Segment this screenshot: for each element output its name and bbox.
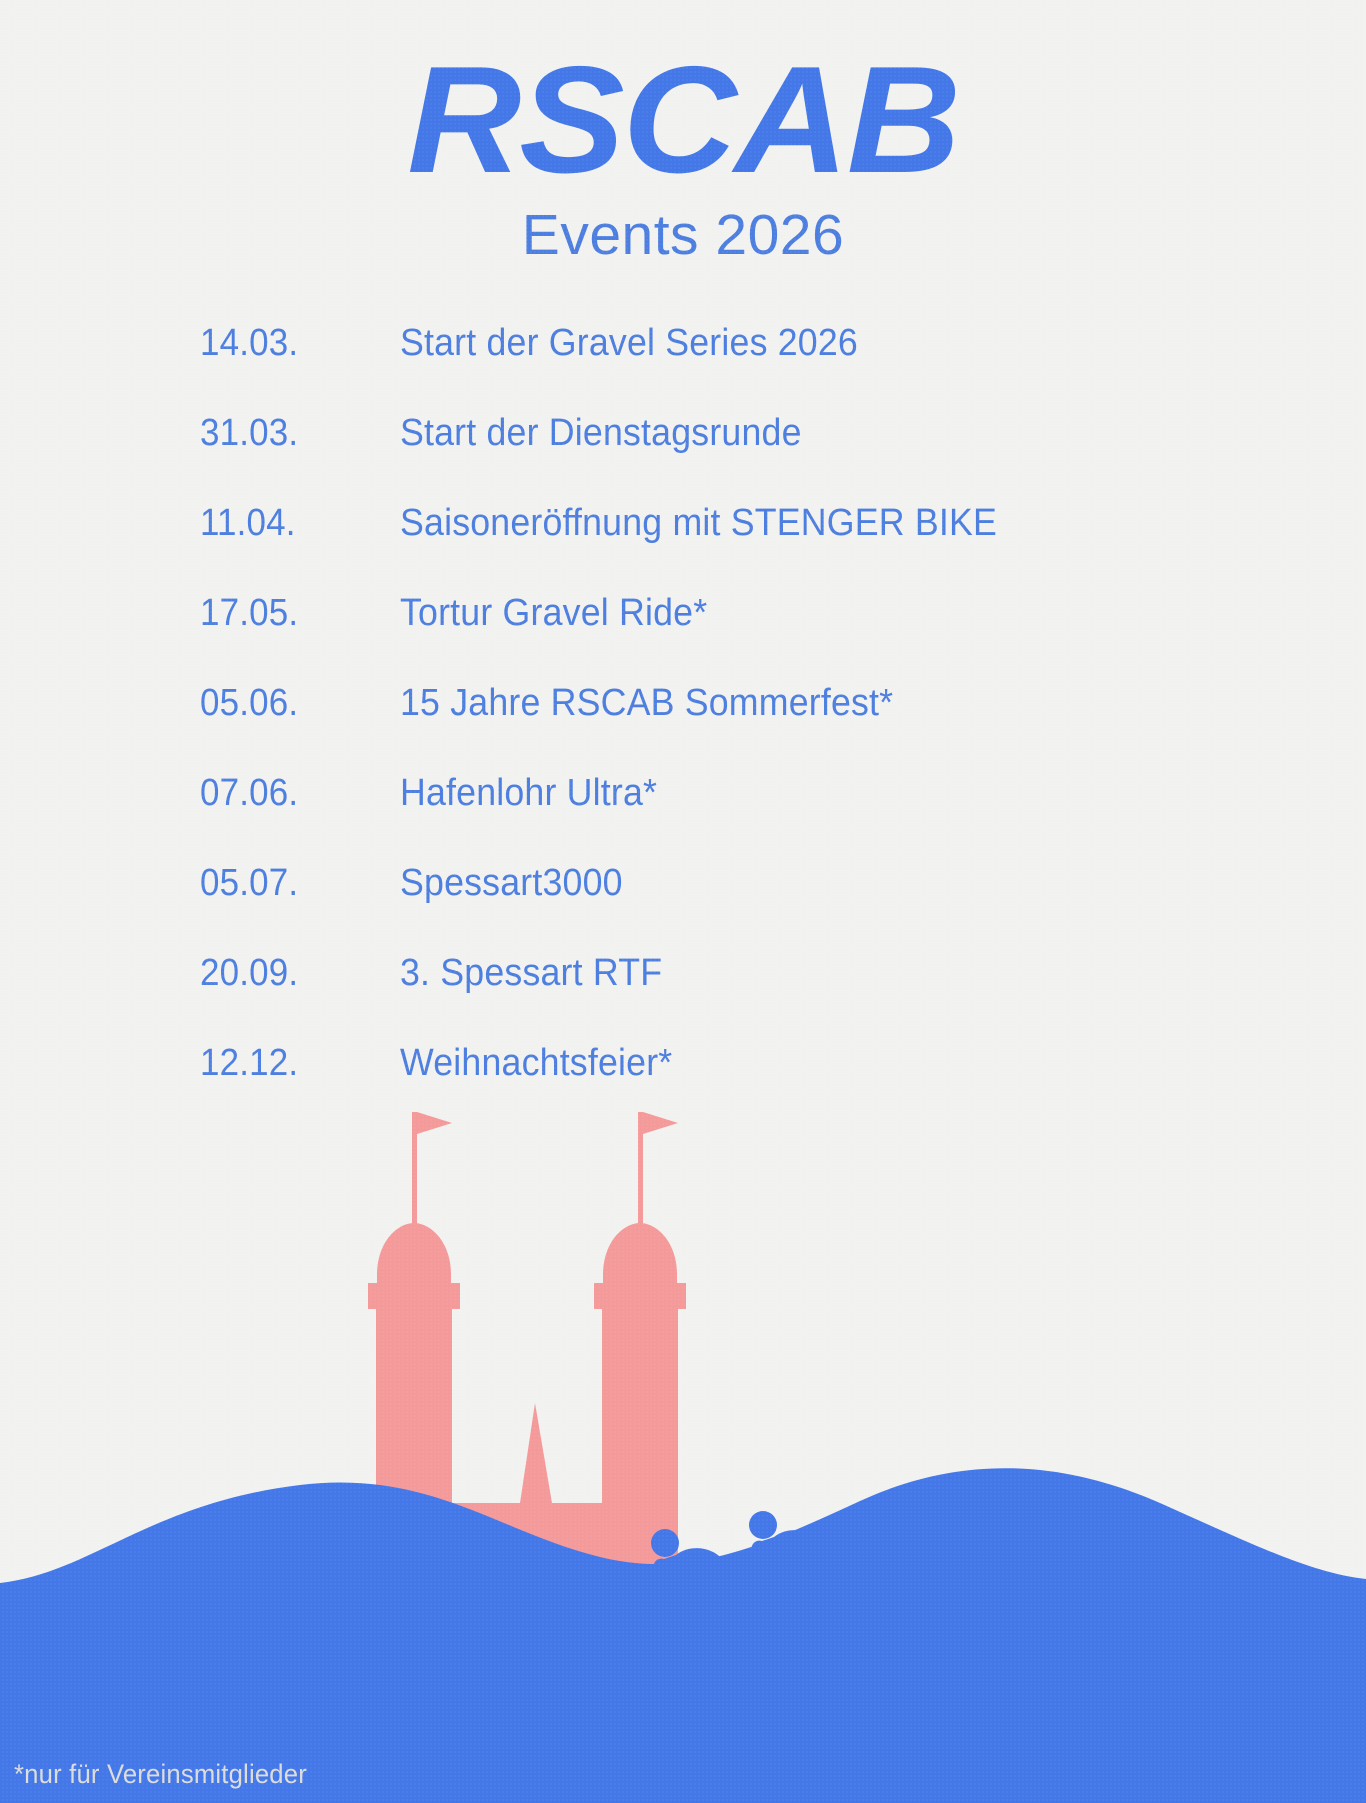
- event-date: 20.09.: [200, 952, 384, 995]
- list-item: 11.04. Saisoneröffnung mit STENGER BIKE: [0, 502, 1366, 592]
- event-name: Saisoneröffnung mit STENGER BIKE: [400, 502, 997, 545]
- list-item: 05.06. 15 Jahre RSCAB Sommerfest*: [0, 682, 1366, 772]
- event-date: 17.05.: [200, 592, 384, 635]
- cyclist-1-head: [651, 1529, 679, 1557]
- event-date: 11.04.: [200, 502, 384, 545]
- list-item: 12.12. Weihnachtsfeier*: [0, 1042, 1366, 1132]
- event-name: Start der Gravel Series 2026: [400, 322, 858, 365]
- poster-artwork: [0, 1103, 1366, 1803]
- event-date: 07.06.: [200, 772, 384, 815]
- list-item: 17.05. Tortur Gravel Ride*: [0, 592, 1366, 682]
- list-item: 14.03. Start der Gravel Series 2026: [0, 322, 1366, 412]
- page-title: RSCAB: [0, 0, 1366, 196]
- list-item: 05.07. Spessart3000: [0, 862, 1366, 952]
- event-date: 05.06.: [200, 682, 384, 725]
- event-name: Weihnachtsfeier*: [400, 1042, 672, 1085]
- events-list: 14.03. Start der Gravel Series 2026 31.0…: [0, 322, 1366, 1132]
- list-item: 07.06. Hafenlohr Ultra*: [0, 772, 1366, 862]
- event-name: 15 Jahre RSCAB Sommerfest*: [400, 682, 893, 725]
- list-item: 31.03. Start der Dienstagsrunde: [0, 412, 1366, 502]
- poster-canvas: RSCAB Events 2026 14.03. Start der Grave…: [0, 0, 1366, 1803]
- event-date: 31.03.: [200, 412, 384, 455]
- event-date: 14.03.: [200, 322, 384, 365]
- tower-dome-right: [603, 1223, 677, 1293]
- poster-header: RSCAB Events 2026: [0, 0, 1366, 266]
- event-date: 05.07.: [200, 862, 384, 905]
- cyclist-2-head: [749, 1511, 777, 1539]
- event-date: 12.12.: [200, 1042, 384, 1085]
- list-item: 20.09. 3. Spessart RTF: [0, 952, 1366, 1042]
- footnote-text: *nur für Vereinsmitglieder: [14, 1759, 307, 1790]
- event-name: 3. Spessart RTF: [400, 952, 662, 995]
- event-name: Start der Dienstagsrunde: [400, 412, 802, 455]
- event-name: Tortur Gravel Ride*: [400, 592, 707, 635]
- blue-wave-band: [0, 1468, 1366, 1803]
- event-name: Hafenlohr Ultra*: [400, 772, 657, 815]
- event-name: Spessart3000: [400, 862, 623, 905]
- tower-dome-left: [377, 1223, 451, 1293]
- page-subtitle: Events 2026: [0, 196, 1366, 266]
